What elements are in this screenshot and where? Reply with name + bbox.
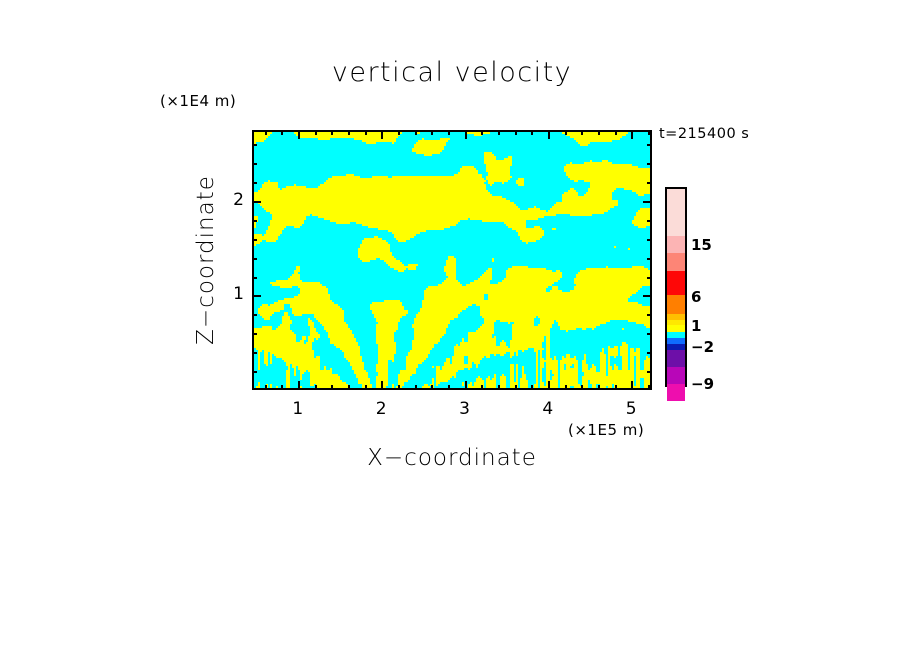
axis-tick: [647, 163, 652, 165]
colorbar: [665, 187, 687, 387]
axis-tick: [581, 130, 583, 135]
axis-tick: [648, 385, 650, 390]
colorbar-segment: [667, 236, 685, 253]
colorbar-segment: [667, 253, 685, 271]
axis-tick: [315, 385, 317, 390]
axis-tick: [298, 381, 300, 390]
axis-tick: [643, 295, 652, 297]
axis-tick: [265, 385, 267, 390]
axis-tick: [515, 130, 517, 135]
axis-tick: [415, 385, 417, 390]
axis-tick: [465, 381, 467, 390]
axis-tick: [548, 381, 550, 390]
x-tick-label: 4: [533, 399, 563, 419]
colorbar-tick-label: −9: [691, 375, 714, 393]
axis-tick: [252, 220, 257, 222]
axis-tick: [281, 385, 283, 390]
axis-tick: [431, 130, 433, 135]
axis-tick: [647, 220, 652, 222]
axis-tick: [647, 333, 652, 335]
axis-tick: [448, 130, 450, 135]
axis-tick: [498, 385, 500, 390]
axis-tick: [252, 371, 257, 373]
axis-tick: [365, 385, 367, 390]
page-title: vertical velocity: [0, 57, 904, 88]
axis-tick: [281, 130, 283, 135]
axis-tick: [365, 130, 367, 135]
axis-tick: [252, 314, 257, 316]
axis-tick: [252, 201, 261, 203]
axis-tick: [415, 130, 417, 135]
axis-tick: [331, 385, 333, 390]
axis-tick: [643, 201, 652, 203]
axis-tick: [465, 130, 467, 139]
axis-tick: [252, 182, 257, 184]
axis-tick: [348, 130, 350, 135]
axis-tick: [348, 385, 350, 390]
axis-tick: [647, 258, 652, 260]
axis-tick: [647, 239, 652, 241]
axis-tick: [431, 385, 433, 390]
axis-tick: [647, 371, 652, 373]
axis-tick: [615, 130, 617, 135]
colorbar-segment: [667, 295, 685, 314]
colorbar-segment: [667, 271, 685, 295]
contour-field: [252, 130, 652, 390]
axis-tick: [648, 130, 650, 135]
y-tick-label: 1: [218, 284, 244, 304]
colorbar-tick-label: 6: [691, 288, 701, 306]
axis-tick: [481, 385, 483, 390]
axis-tick: [615, 385, 617, 390]
axis-tick: [647, 314, 652, 316]
axis-tick: [565, 130, 567, 135]
axis-tick: [265, 130, 267, 135]
y-axis-label: Z−coordinate: [111, 240, 301, 280]
contour-plot-area: [252, 130, 652, 390]
x-tick-label: 5: [616, 399, 646, 419]
colorbar-segment: [667, 367, 685, 384]
axis-tick: [531, 385, 533, 390]
axis-tick: [381, 381, 383, 390]
axis-tick: [548, 130, 550, 139]
axis-tick: [515, 385, 517, 390]
colorbar-tick-label: 1: [691, 317, 701, 335]
axis-tick: [598, 385, 600, 390]
figure-canvas: vertical velocity (×1E4 m) (×1E5 m) t=21…: [0, 0, 904, 654]
axis-tick: [581, 385, 583, 390]
axis-tick: [647, 352, 652, 354]
x-axis-label: X−coordinate: [0, 445, 904, 471]
colorbar-tick-label: −2: [691, 338, 714, 356]
axis-tick: [252, 333, 257, 335]
axis-tick: [398, 130, 400, 135]
axis-tick: [531, 130, 533, 135]
axis-tick: [647, 182, 652, 184]
axis-tick: [315, 130, 317, 135]
y-axis-unit: (×1E4 m): [160, 92, 236, 110]
colorbar-tick-label: 15: [691, 236, 712, 254]
axis-tick: [252, 144, 257, 146]
axis-tick: [598, 130, 600, 135]
axis-tick: [381, 130, 383, 139]
y-tick-label: 2: [218, 190, 244, 210]
axis-tick: [631, 381, 633, 390]
colorbar-segment: [667, 189, 685, 236]
axis-tick: [631, 130, 633, 139]
x-tick-label: 3: [450, 399, 480, 419]
axis-tick: [252, 352, 257, 354]
colorbar-segment: [667, 350, 685, 367]
axis-tick: [448, 385, 450, 390]
axis-tick: [298, 130, 300, 139]
axis-tick: [252, 295, 261, 297]
axis-tick: [647, 144, 652, 146]
axis-tick: [331, 130, 333, 135]
x-tick-label: 1: [283, 399, 313, 419]
axis-tick: [481, 130, 483, 135]
x-axis-unit: (×1E5 m): [568, 421, 644, 439]
axis-tick: [647, 277, 652, 279]
timestamp-annotation: t=215400 s: [659, 126, 749, 142]
x-tick-label: 2: [366, 399, 396, 419]
axis-tick: [498, 130, 500, 135]
colorbar-segment: [667, 325, 685, 332]
colorbar-segment: [667, 384, 685, 401]
axis-tick: [565, 385, 567, 390]
axis-tick: [398, 385, 400, 390]
axis-tick: [252, 163, 257, 165]
